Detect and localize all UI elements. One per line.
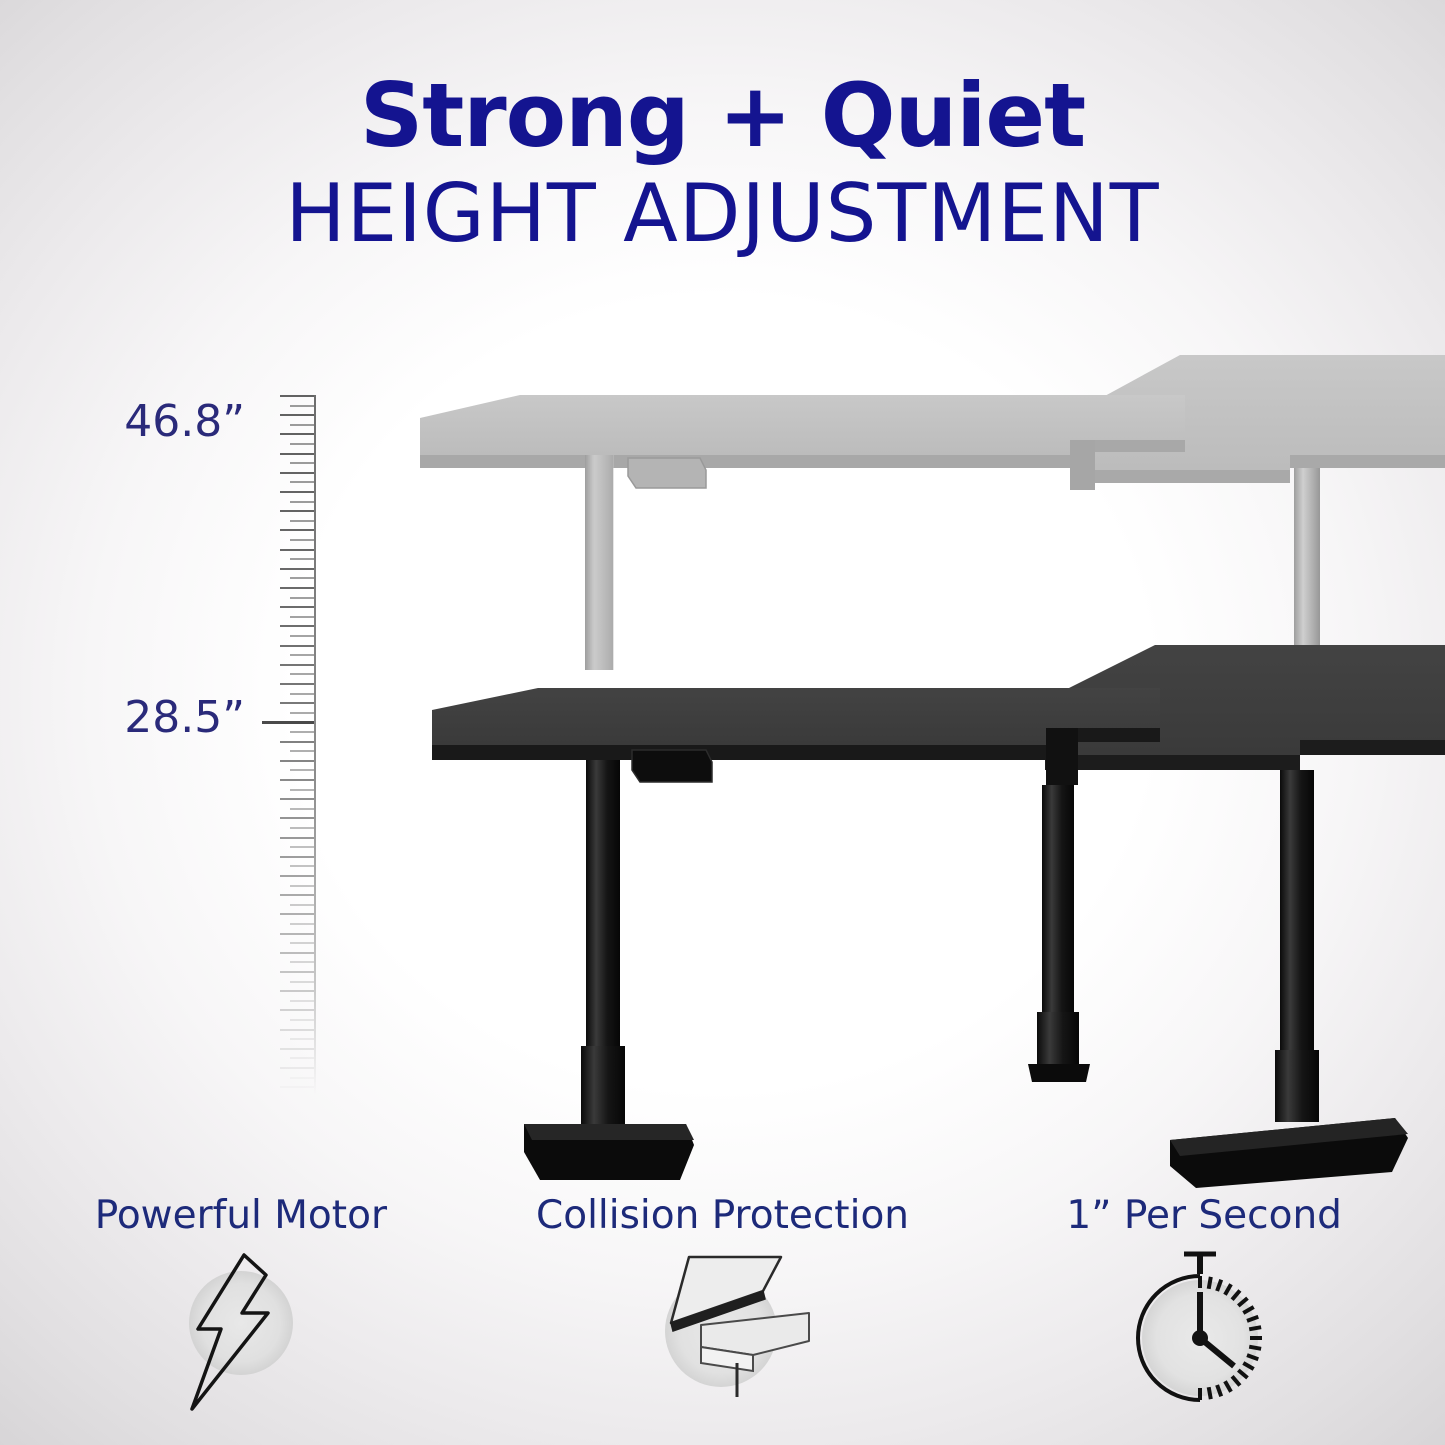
lowered-desk <box>432 645 1445 1188</box>
feature-label-collision-protection: Collision Protection <box>482 1196 964 1235</box>
lowered-desk-corner-foot <box>1028 1064 1090 1082</box>
feature-icon-wrap-speed <box>963 1251 1445 1416</box>
lowered-desk-corner-lower-leg <box>1037 1012 1079 1064</box>
stopwatch-center-pin <box>1192 1330 1208 1346</box>
lowered-desk-return-edge-2 <box>1300 740 1445 755</box>
stopwatch-tick <box>1249 1347 1261 1349</box>
lowered-desk-corner-upper-leg <box>1042 785 1074 1015</box>
lightning-bolt-icon <box>146 1251 336 1416</box>
stopwatch-tick <box>1249 1327 1261 1329</box>
feature-row: Powerful Motor Collision Protection <box>0 1196 1445 1416</box>
raised-desk-corner-bracket <box>1070 440 1095 490</box>
lowered-desk-main-edge <box>432 745 1055 760</box>
stopwatch-tick <box>1209 1387 1211 1399</box>
lowered-desk-return-edge <box>1045 755 1300 770</box>
feature-icon-wrap-collision <box>482 1251 964 1416</box>
lowered-desk-left-lower-leg <box>581 1046 625 1124</box>
feature-collision-protection: Collision Protection <box>482 1196 964 1416</box>
lowered-desk-right-lower-leg <box>1275 1050 1319 1122</box>
raised-desk <box>420 355 1445 678</box>
lowered-desk-control-keypad-icon <box>632 750 712 782</box>
control-keypad-icon <box>628 458 706 488</box>
raised-desk-main-edge-2 <box>1085 440 1185 452</box>
raised-desk-return-edge-2 <box>1290 455 1445 468</box>
feature-label-powerful-motor: Powerful Motor <box>0 1196 482 1235</box>
colliding-desktops-icon <box>613 1251 833 1416</box>
stopwatch-tick <box>1209 1277 1211 1289</box>
raised-desk-left-leg-highlight <box>592 455 614 670</box>
feature-icon-wrap-motor <box>0 1251 482 1416</box>
lowered-desk-left-foot-top <box>524 1124 694 1140</box>
infographic-page: Strong + Quiet HEIGHT ADJUSTMENT 46.8” 2… <box>0 0 1445 1445</box>
lowered-desk-left-upper-leg <box>586 760 620 1050</box>
feature-speed: 1” Per Second <box>963 1196 1445 1416</box>
raised-desk-main-edge <box>420 455 1085 468</box>
stopwatch-icon <box>1104 1246 1304 1421</box>
motor-icon-circle <box>189 1271 293 1375</box>
raised-desk-return-edge <box>1070 470 1290 483</box>
lowered-desk-right-upper-leg <box>1280 770 1314 1055</box>
feature-powerful-motor: Powerful Motor <box>0 1196 482 1416</box>
feature-label-speed: 1” Per Second <box>963 1196 1445 1235</box>
lowered-desk-corner-bracket <box>1046 728 1078 785</box>
